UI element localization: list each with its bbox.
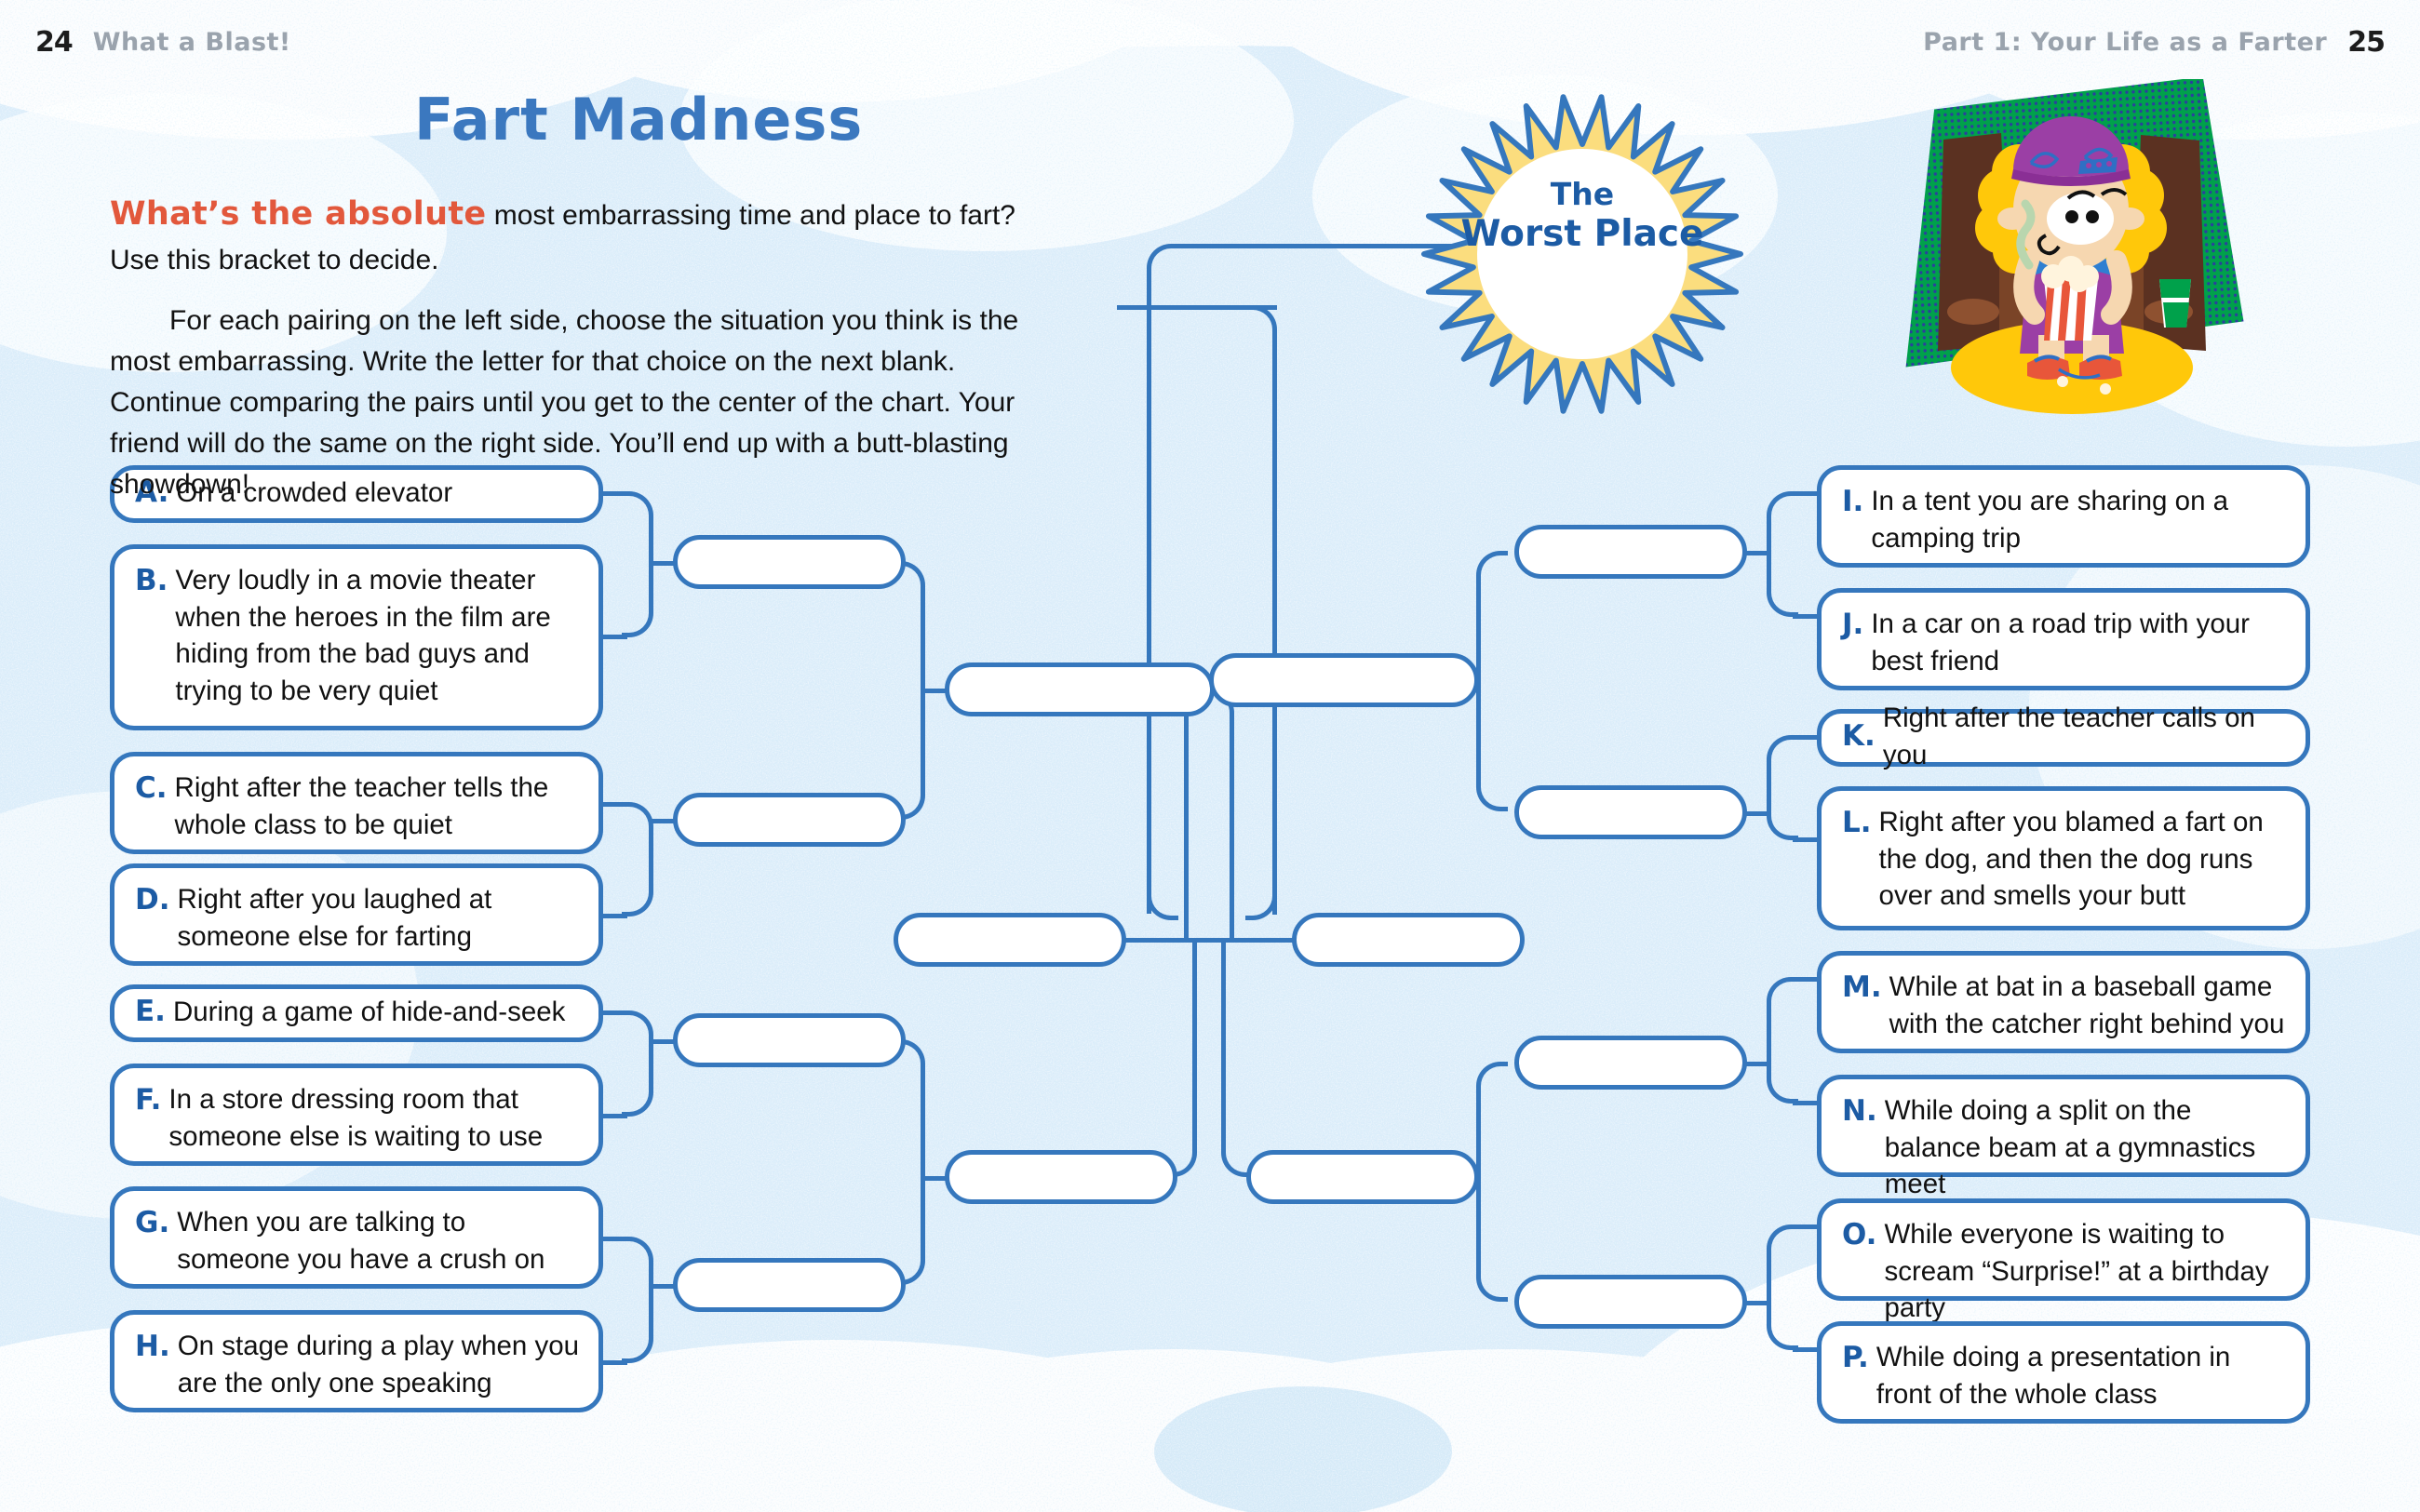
item-text: Right after you laughed at someone else … bbox=[178, 881, 580, 955]
blank-right-r1-4[interactable] bbox=[1514, 1275, 1747, 1329]
bracket-item-g[interactable]: G. When you are talking to someone you h… bbox=[110, 1186, 603, 1289]
connector-line bbox=[1272, 333, 1277, 915]
intro-paragraph: For each pairing on the left side, choos… bbox=[110, 301, 1069, 505]
item-text: Right after the teacher calls on you bbox=[1883, 700, 2287, 773]
bracket-item-m[interactable]: M. While at bat in a baseball game with … bbox=[1817, 951, 2310, 1053]
connector-line bbox=[1147, 272, 1151, 914]
left-running-head: What a Blast! bbox=[93, 28, 291, 57]
item-text: While doing a presentation in front of t… bbox=[1876, 1339, 2287, 1412]
blank-left-r1-4[interactable] bbox=[673, 1258, 906, 1312]
item-text: On stage during a play when you are the … bbox=[178, 1328, 580, 1401]
left-page-header: 24 What a Blast! bbox=[35, 26, 291, 59]
blank-left-r1-1[interactable] bbox=[673, 535, 906, 589]
item-text: While doing a split on the balance beam … bbox=[1885, 1092, 2287, 1203]
blank-left-r1-3[interactable] bbox=[673, 1013, 906, 1067]
item-letter: N. bbox=[1842, 1092, 1877, 1131]
blank-right-r1-3[interactable] bbox=[1514, 1036, 1747, 1090]
right-running-head: Part 1: Your Life as a Farter bbox=[1923, 28, 2327, 57]
connector-line bbox=[1184, 707, 1189, 938]
left-folio: 24 bbox=[35, 26, 73, 59]
bracket-item-o[interactable]: O. While everyone is waiting to scream “… bbox=[1817, 1198, 2310, 1301]
item-letter: L. bbox=[1842, 804, 1872, 843]
connector-line bbox=[1184, 938, 1226, 943]
blank-left-r1-2[interactable] bbox=[673, 793, 906, 847]
item-text: While everyone is waiting to scream “Sur… bbox=[1884, 1216, 2287, 1327]
item-letter: D. bbox=[135, 881, 170, 920]
connector-line bbox=[1767, 763, 1771, 813]
bracket-item-l[interactable]: L. Right after you blamed a fart on the … bbox=[1817, 786, 2310, 930]
blank-left-r2-1[interactable] bbox=[945, 662, 1215, 716]
worst-place-starburst bbox=[1419, 91, 1745, 417]
item-text: In a tent you are sharing on a camping t… bbox=[1871, 483, 2287, 556]
blank-right-r2-2[interactable] bbox=[1246, 1150, 1479, 1204]
connector-line bbox=[1192, 940, 1197, 1149]
bracket-item-p[interactable]: P. While doing a presentation in front o… bbox=[1817, 1321, 2310, 1424]
connector-line bbox=[649, 1264, 653, 1336]
bracket-item-e[interactable]: E. During a game of hide-and-seek bbox=[110, 984, 603, 1042]
bracket-item-c[interactable]: C. Right after the teacher tells the who… bbox=[110, 752, 603, 854]
bracket-item-f[interactable]: F. In a store dressing room that someone… bbox=[110, 1064, 603, 1166]
bracket-item-k[interactable]: K. Right after the teacher calls on you bbox=[1817, 709, 2310, 767]
item-letter: I. bbox=[1842, 483, 1863, 522]
intro-lead: What’s the absolute bbox=[110, 195, 486, 233]
item-text: While at bat in a baseball game with the… bbox=[1889, 969, 2287, 1042]
intro-text: What’s the absolute most embarrassing ti… bbox=[110, 191, 1069, 505]
connector-line bbox=[1767, 1252, 1771, 1323]
item-text: Very loudly in a movie theater when the … bbox=[175, 562, 580, 709]
item-letter: K. bbox=[1842, 717, 1875, 756]
bracket-item-n[interactable]: N. While doing a split on the balance be… bbox=[1817, 1075, 2310, 1177]
item-letter: G. bbox=[135, 1204, 169, 1243]
connector-line bbox=[1117, 305, 1277, 310]
item-text: When you are talking to someone you have… bbox=[177, 1204, 580, 1278]
kid-popcorn-illustration bbox=[1889, 79, 2252, 433]
item-letter: B. bbox=[135, 562, 168, 601]
bracket-item-h[interactable]: H. On stage during a play when you are t… bbox=[110, 1310, 603, 1412]
connector-line bbox=[1221, 938, 1226, 1150]
page-title: Fart Madness bbox=[414, 86, 863, 154]
connector-line bbox=[921, 1067, 925, 1257]
blank-left-r2-2[interactable] bbox=[945, 1150, 1177, 1204]
item-text: In a store dressing room that someone el… bbox=[168, 1081, 580, 1155]
bracket-item-d[interactable]: D. Right after you laughed at someone el… bbox=[110, 863, 603, 966]
blank-right-r1-2[interactable] bbox=[1514, 785, 1747, 839]
blank-right-r3-1[interactable] bbox=[1292, 913, 1525, 967]
connector-line bbox=[1221, 938, 1296, 943]
item-letter: O. bbox=[1842, 1216, 1876, 1255]
blank-right-r1-1[interactable] bbox=[1514, 525, 1747, 579]
connector-line bbox=[1230, 716, 1234, 940]
item-text: Right after the teacher tells the whole … bbox=[175, 769, 580, 843]
item-text: During a game of hide-and-seek bbox=[173, 994, 565, 1031]
right-folio: 25 bbox=[2347, 26, 2385, 59]
connector-line bbox=[1174, 244, 1453, 248]
item-letter: C. bbox=[135, 769, 168, 809]
item-letter: H. bbox=[135, 1328, 170, 1367]
bracket-item-b[interactable]: B. Very loudly in a movie theater when t… bbox=[110, 544, 603, 730]
bracket-item-j[interactable]: J. In a car on a road trip with your bes… bbox=[1817, 588, 2310, 690]
item-letter: P. bbox=[1842, 1339, 1869, 1378]
connector-line bbox=[649, 830, 653, 890]
right-page-header: Part 1: Your Life as a Farter 25 bbox=[1923, 26, 2385, 59]
item-letter: F. bbox=[135, 1081, 161, 1120]
bracket-item-i[interactable]: I. In a tent you are sharing on a campin… bbox=[1817, 465, 2310, 568]
item-letter: E. bbox=[135, 993, 166, 1032]
connector-line bbox=[649, 1038, 653, 1090]
item-text: Right after you blamed a fart on the dog… bbox=[1879, 804, 2287, 915]
item-letter: J. bbox=[1842, 606, 1863, 645]
item-text: In a car on a road trip with your best f… bbox=[1871, 606, 2287, 679]
blank-right-r2-1[interactable] bbox=[1209, 653, 1479, 707]
blank-left-r3-1[interactable] bbox=[894, 913, 1126, 967]
item-letter: M. bbox=[1842, 969, 1882, 1008]
